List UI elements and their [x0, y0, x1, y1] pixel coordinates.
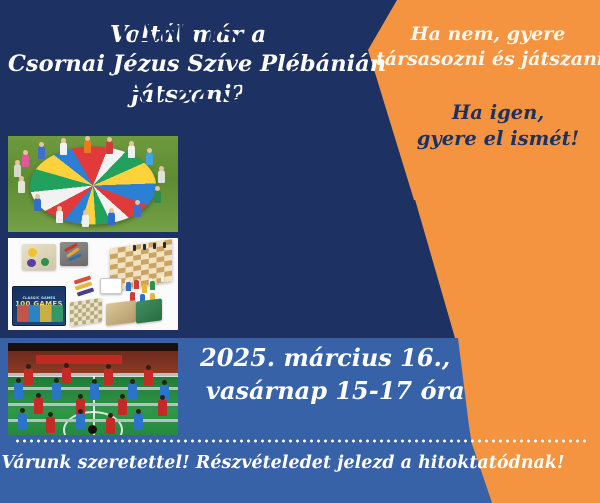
- event-title-line-2: JÁTSZÓHÁZ: [110, 68, 331, 111]
- game-box-artwork: [17, 305, 63, 322]
- child-figure: [158, 170, 165, 183]
- game-token: [27, 259, 36, 267]
- child-figure: [14, 164, 21, 177]
- child-figure: [22, 154, 29, 167]
- child-figure: [128, 145, 135, 158]
- answer-yes-line-2: gyere el ismét!: [396, 126, 600, 152]
- chess-piece: [163, 242, 166, 248]
- chess-piece: [153, 243, 156, 249]
- red-player-figure: [144, 370, 153, 386]
- child-figure: [146, 152, 153, 165]
- answer-if-not-yet: Ha nem, gyere társasozni és játszani!: [376, 22, 600, 72]
- foosball-ball: [88, 425, 97, 434]
- event-time-line: vasárnap 15-17 óra: [200, 374, 490, 407]
- child-figure: [154, 190, 161, 203]
- chess-piece: [133, 245, 136, 251]
- chess-piece: [143, 244, 146, 250]
- red-player-figure: [46, 417, 55, 433]
- child-figure: [34, 198, 41, 211]
- blue-player-figure: [134, 414, 143, 430]
- event-datetime: 2025. március 16., vasárnap 15-17 óra: [200, 341, 490, 407]
- foosball-table-photo: [8, 343, 178, 435]
- red-player-figure: [34, 398, 43, 414]
- parachute-play-photo: [8, 136, 178, 232]
- pawn: [126, 282, 131, 291]
- blank-card: [100, 278, 122, 294]
- event-date-line: 2025. március 16.,: [200, 341, 490, 374]
- player-rod: [8, 419, 178, 422]
- blue-player-figure: [76, 414, 85, 430]
- child-figure: [38, 146, 45, 159]
- event-title-line-1: HITTANOS: [48, 14, 242, 57]
- child-figure: [56, 210, 63, 223]
- blue-player-figure: [14, 383, 23, 399]
- answer-no-line-1: Ha nem, gyere: [376, 22, 600, 47]
- checkers-board: [70, 298, 102, 326]
- chess-piece: [161, 276, 164, 282]
- pawn: [134, 280, 139, 289]
- dotted-divider: [14, 439, 586, 443]
- blue-player-figure: [90, 384, 99, 400]
- game-board-tile: [106, 300, 136, 326]
- board-games-photo: CLASSIC GAMES 100 GAMES: [8, 238, 178, 330]
- game-token: [41, 258, 49, 266]
- child-figure: [134, 204, 141, 217]
- child-figure: [82, 214, 89, 227]
- red-player-figure: [62, 368, 71, 384]
- game-box-100-games: CLASSIC GAMES 100 GAMES: [12, 286, 66, 326]
- answer-yes-line-1: Ha igen,: [396, 100, 600, 126]
- red-player-figure: [118, 399, 127, 415]
- blue-player-figure: [52, 383, 61, 399]
- red-player-figure: [158, 400, 167, 416]
- footer-invitation: Várunk szeretettel! Részvételedet jelezd…: [0, 452, 566, 475]
- child-figure: [18, 180, 25, 193]
- answer-no-line-2: társasozni és játszani!: [376, 47, 600, 72]
- game-token: [28, 248, 37, 257]
- game-board-tile: [136, 298, 162, 323]
- child-figure: [106, 141, 113, 154]
- red-player-figure: [106, 418, 115, 434]
- answer-if-yes: Ha igen, gyere el ismét!: [396, 100, 600, 151]
- child-figure: [108, 212, 115, 225]
- red-player-figure: [24, 369, 33, 385]
- red-goal-wall: [36, 355, 122, 364]
- blue-player-figure: [128, 384, 137, 400]
- child-figure: [84, 140, 91, 153]
- poster-canvas: Voltál már a Csornai Jézus Szíve Plébáni…: [0, 0, 600, 503]
- child-figure: [60, 142, 67, 155]
- pawn: [142, 284, 147, 293]
- blue-player-figure: [18, 413, 27, 429]
- pawn: [150, 281, 155, 290]
- game-board-tile: [22, 244, 56, 270]
- red-player-figure: [104, 369, 113, 385]
